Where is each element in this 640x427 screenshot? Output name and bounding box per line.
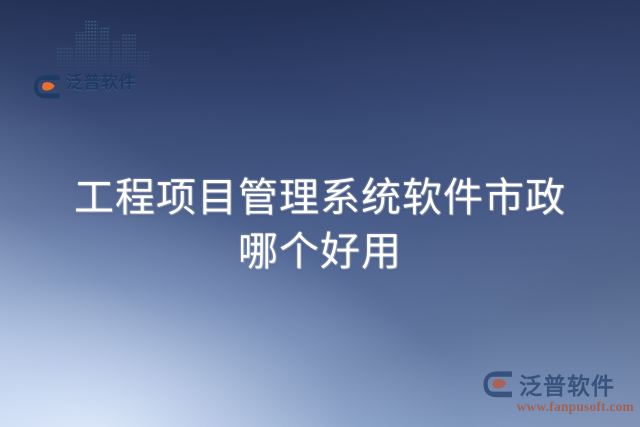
- city-skyline-icon: [57, 14, 149, 74]
- fanpu-watermark-mark-icon: [482, 370, 514, 399]
- watermark-bottom-right: 泛普软件 www.fanpusoft.com: [482, 367, 634, 415]
- brand-name-en: FANPU SOFTWARE: [66, 94, 148, 100]
- promo-banner: 泛普软件 FANPU SOFTWARE 工程项目管理系统软件市政 哪个好用 泛普…: [0, 0, 640, 427]
- headline-title: 工程项目管理系统软件市政 哪个好用: [0, 172, 640, 279]
- headline-line-2: 哪个好用: [0, 226, 640, 280]
- headline-line-1: 工程项目管理系统软件市政: [0, 172, 640, 226]
- watermark-logo-row: 泛普软件: [482, 367, 634, 401]
- brand-name-cn: 泛普软件: [66, 75, 148, 92]
- fanpu-logo-mark-icon: [33, 74, 61, 100]
- watermark-url: www.fanpusoft.com: [482, 399, 634, 415]
- brand-logo-top-left: 泛普软件 FANPU SOFTWARE: [33, 74, 148, 100]
- watermark-name-cn: 泛普软件: [519, 367, 615, 401]
